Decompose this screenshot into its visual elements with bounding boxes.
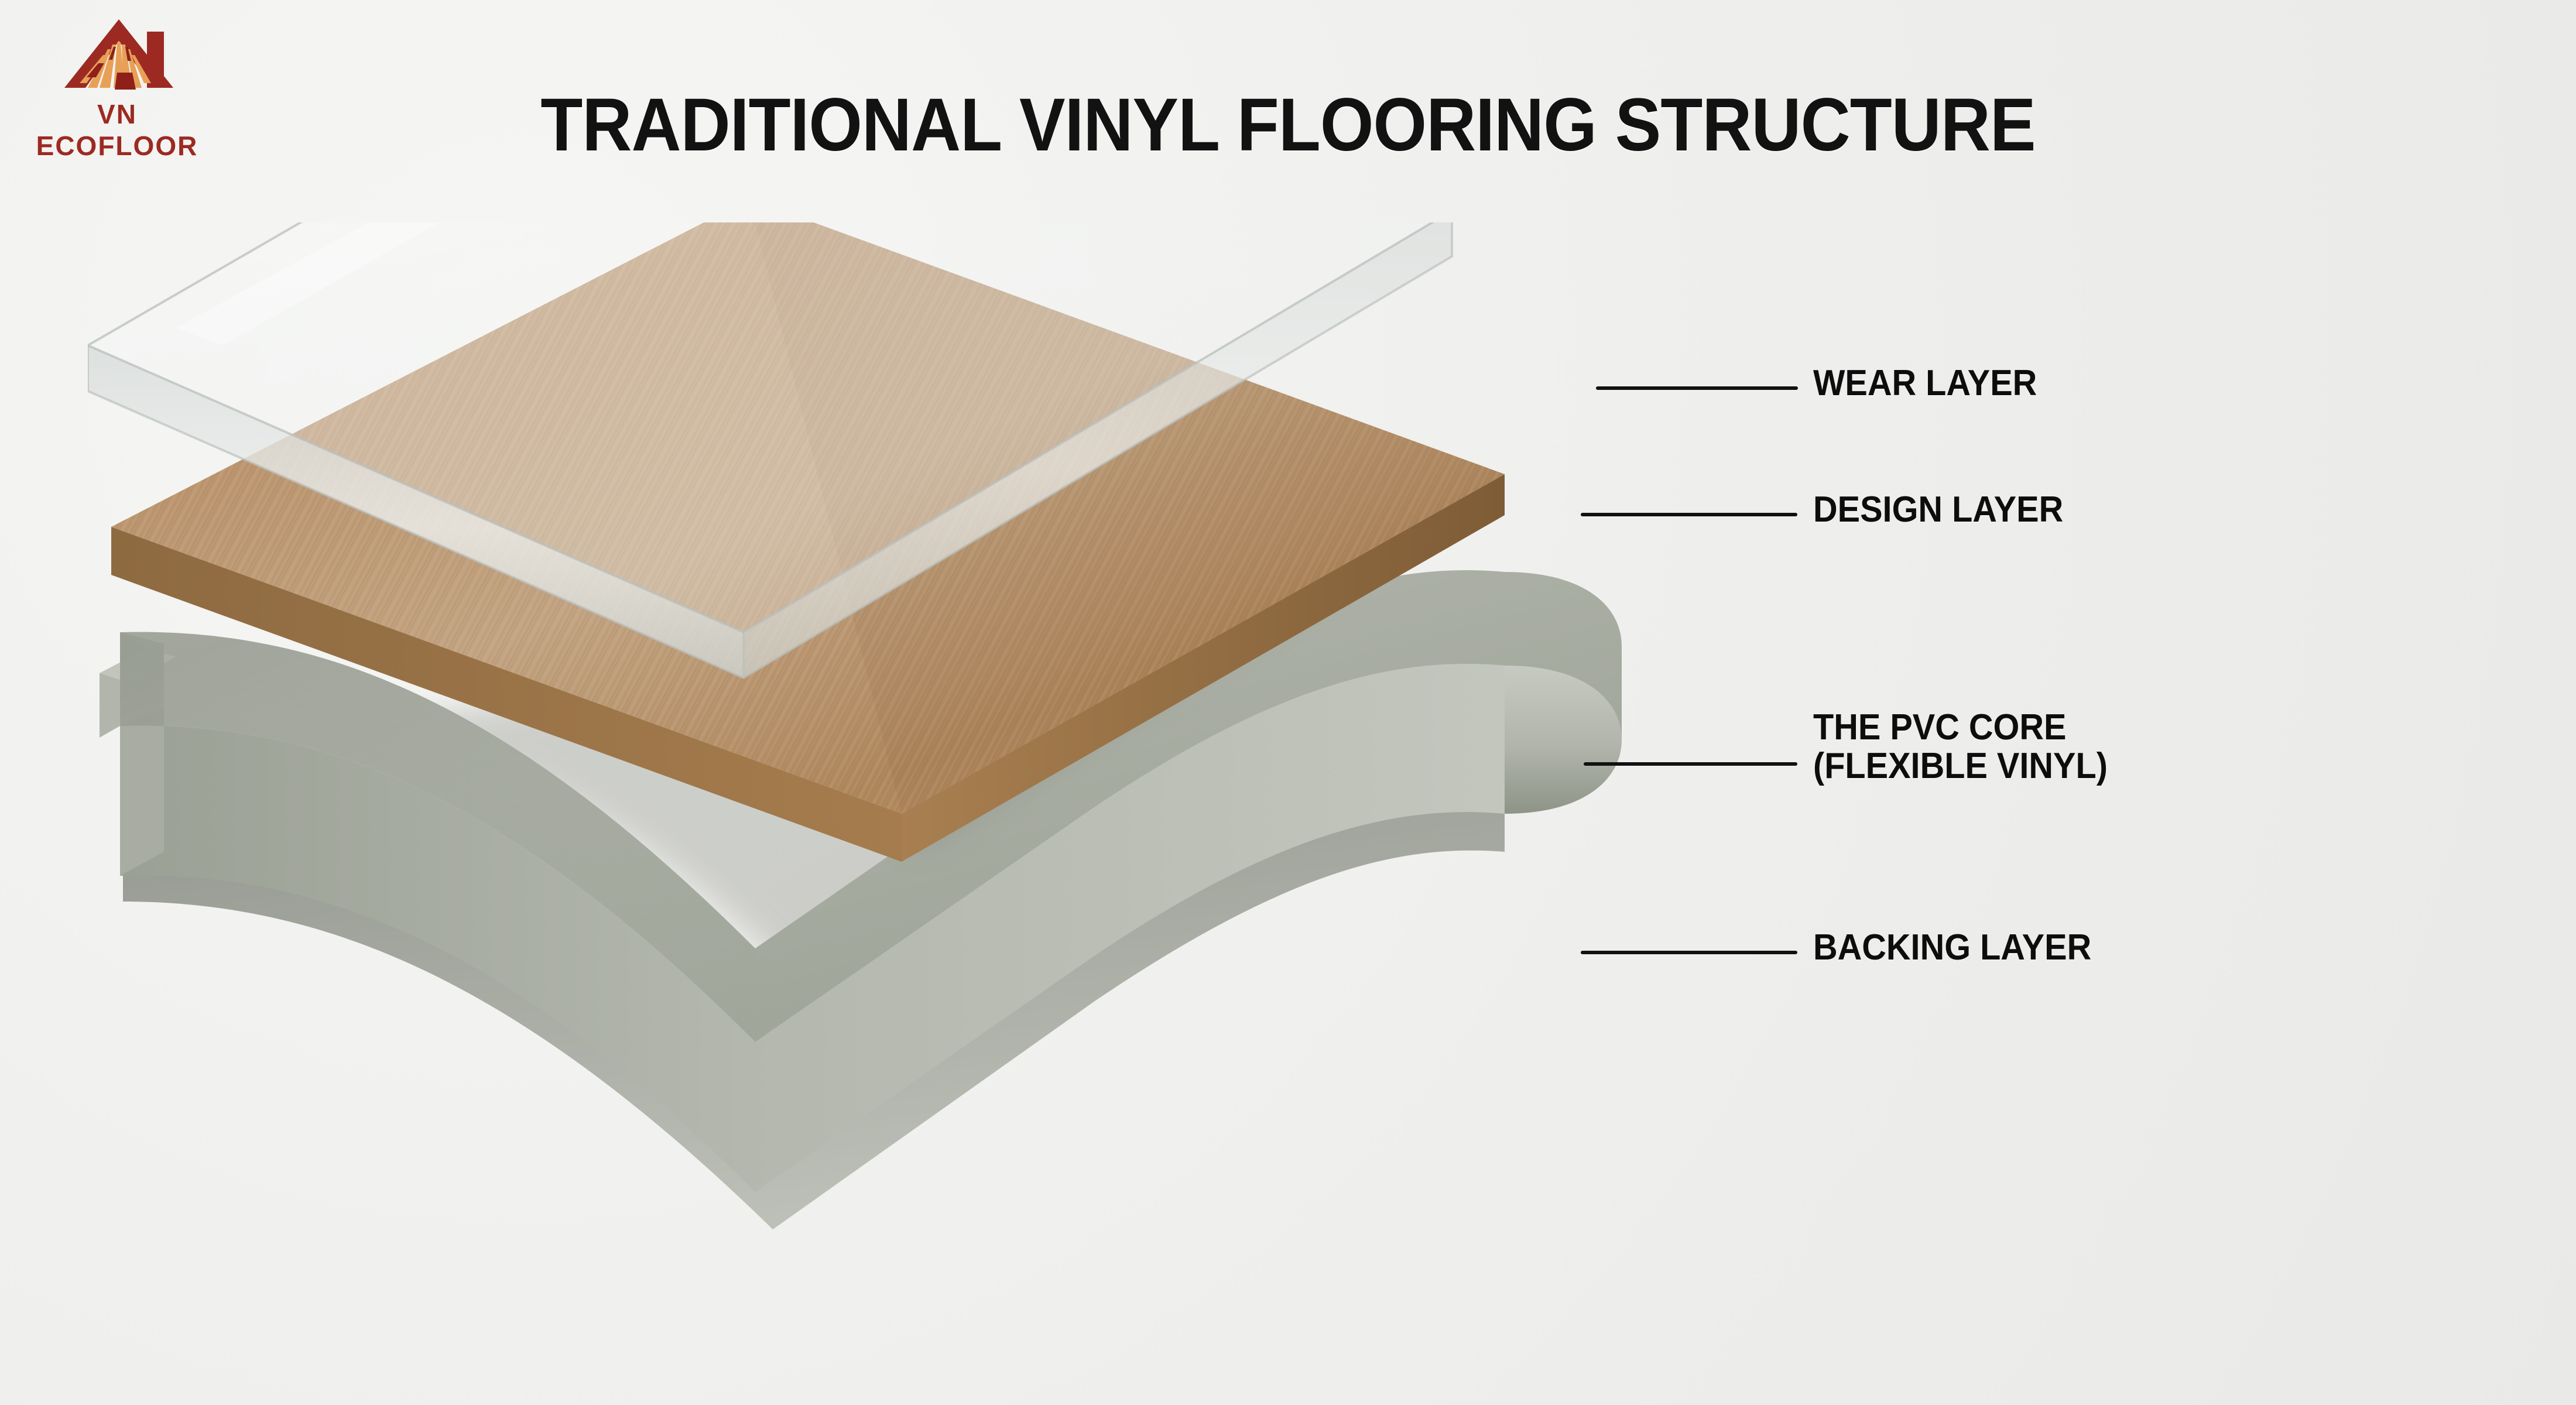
page-title: TRADITIONAL VINYL FLOORING STRUCTURE: [103, 82, 2473, 168]
leader-line-wear-layer: [1596, 386, 1798, 390]
leader-line-pvc-core: [1584, 762, 1797, 766]
flooring-layer-diagram: [88, 222, 1786, 1364]
label-pvc-core: THE PVC CORE (FLEXIBLE VINYL): [1813, 708, 2108, 785]
leader-line-design-layer: [1581, 513, 1797, 516]
leader-line-backing-layer: [1581, 951, 1797, 954]
label-pvc-core-text: THE PVC CORE: [1813, 707, 2067, 748]
label-backing-layer-text: BACKING LAYER: [1813, 927, 2091, 968]
label-backing-layer: BACKING LAYER: [1813, 928, 2091, 967]
label-pvc-core-subtext: (FLEXIBLE VINYL): [1813, 747, 2108, 786]
house-floor-logo-icon: [63, 16, 174, 92]
label-design-layer: DESIGN LAYER: [1813, 491, 2063, 529]
label-design-layer-text: DESIGN LAYER: [1813, 489, 2063, 530]
label-wear-layer: WEAR LAYER: [1813, 364, 2037, 403]
label-wear-layer-text: WEAR LAYER: [1813, 363, 2037, 403]
